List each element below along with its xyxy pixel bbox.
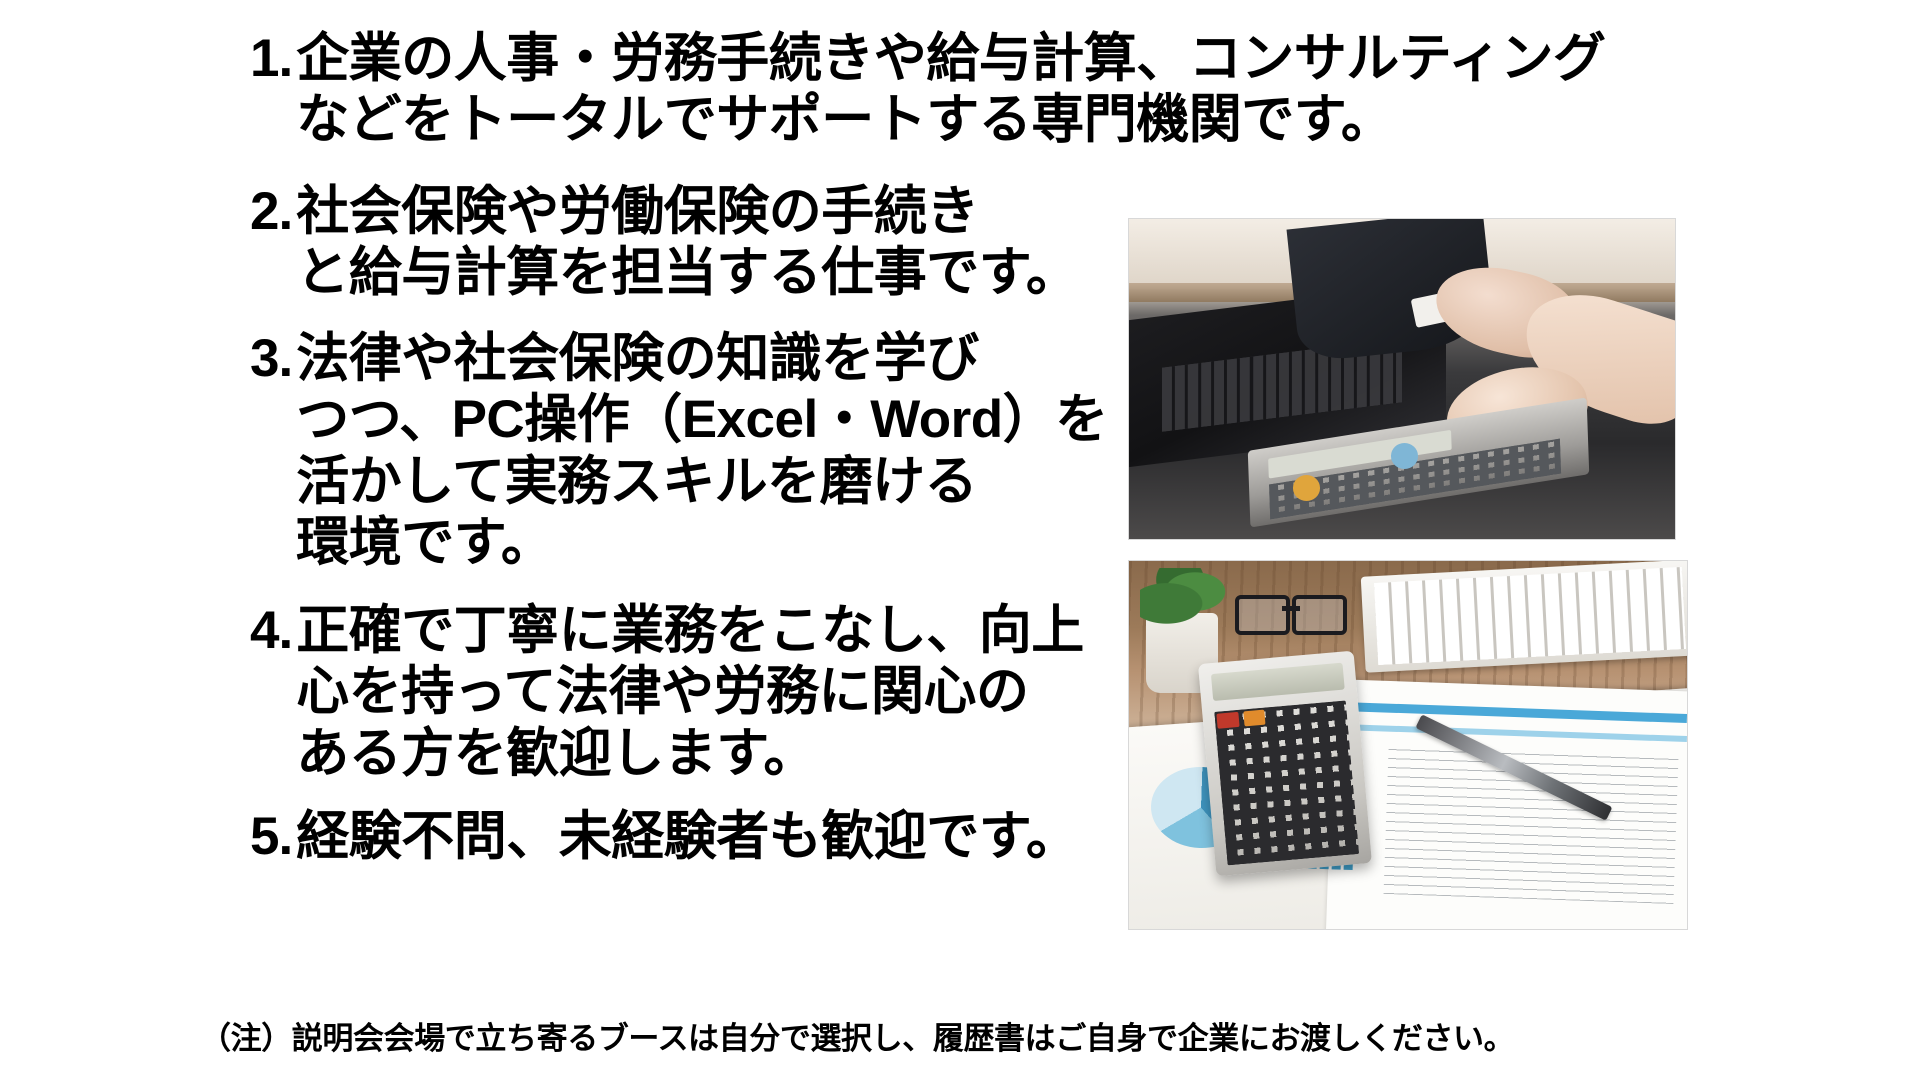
photo-illustration [1129, 219, 1675, 539]
eyeglasses-bridge-shape [1282, 606, 1300, 611]
office-hands-keyboard-calculator-photo [1128, 218, 1676, 540]
calculator-red-key-shape [1217, 712, 1240, 729]
keyboard-shape [1361, 560, 1688, 673]
list-item-marker: 4. [250, 600, 296, 661]
list-item-body: 企業の人事・労務手続きや給与計算、コンサルティング などをトータルでサポートする… [296, 28, 1605, 151]
plant-leaves-shape [1140, 568, 1229, 627]
eyeglasses-lens-left-shape [1235, 595, 1290, 635]
calculator-shape [1198, 650, 1372, 876]
list-item-marker: 1. [250, 28, 296, 89]
list-item-marker: 2. [250, 181, 296, 242]
eyeglasses-lens-right-shape [1292, 595, 1347, 635]
photo-illustration [1129, 561, 1687, 929]
blue-key-shape [1391, 443, 1418, 469]
slide-canvas: 1. 企業の人事・労務手続きや給与計算、コンサルティング などをトータルでサポー… [0, 0, 1920, 1080]
keyboard-keys-shape [1375, 567, 1687, 665]
list-item-line: などをトータルでサポートする専門機関です。 [296, 89, 1605, 150]
list-item-line: 企業の人事・労務手続きや給与計算、コンサルティング [296, 28, 1605, 89]
list-item-marker: 5. [250, 806, 296, 867]
eyeglasses-shape [1235, 590, 1347, 630]
calculator-display-shape [1211, 662, 1344, 701]
calculator-orange-key-shape [1243, 709, 1266, 726]
orange-key-shape [1293, 475, 1320, 501]
list-item-marker: 3. [250, 328, 296, 389]
list-item: 1. 企業の人事・労務手続きや給与計算、コンサルティング などをトータルでサポー… [250, 28, 1370, 151]
footnote-text: （注）説明会会場で立ち寄るブースは自分で選択し、履歴書はご自身で企業にお渡しくだ… [200, 1020, 1514, 1057]
desk-calculator-keyboard-documents-photo [1128, 560, 1688, 930]
